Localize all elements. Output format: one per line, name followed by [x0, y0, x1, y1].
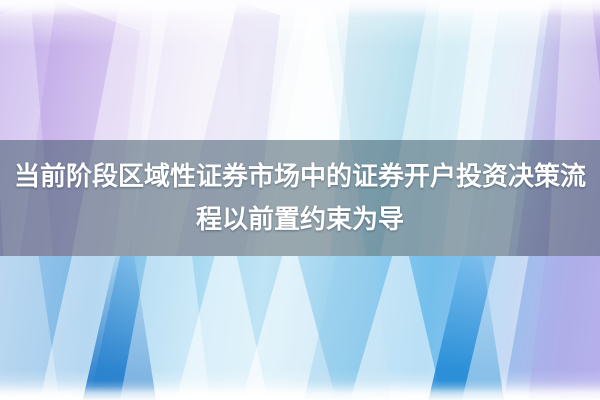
lower-gradient-field	[0, 256, 600, 400]
title-overlay-band: 当前阶段区域性证券市场中的证券开户投资决策流程以前置约束为导	[0, 140, 600, 256]
bottom-white-fade	[0, 380, 600, 400]
page-title: 当前阶段区域性证券市场中的证券开户投资决策流程以前置约束为导	[0, 155, 600, 241]
article-cover-banner: 当前阶段区域性证券市场中的证券开户投资决策流程以前置约束为导	[0, 0, 600, 400]
top-white-fade	[0, 0, 600, 18]
